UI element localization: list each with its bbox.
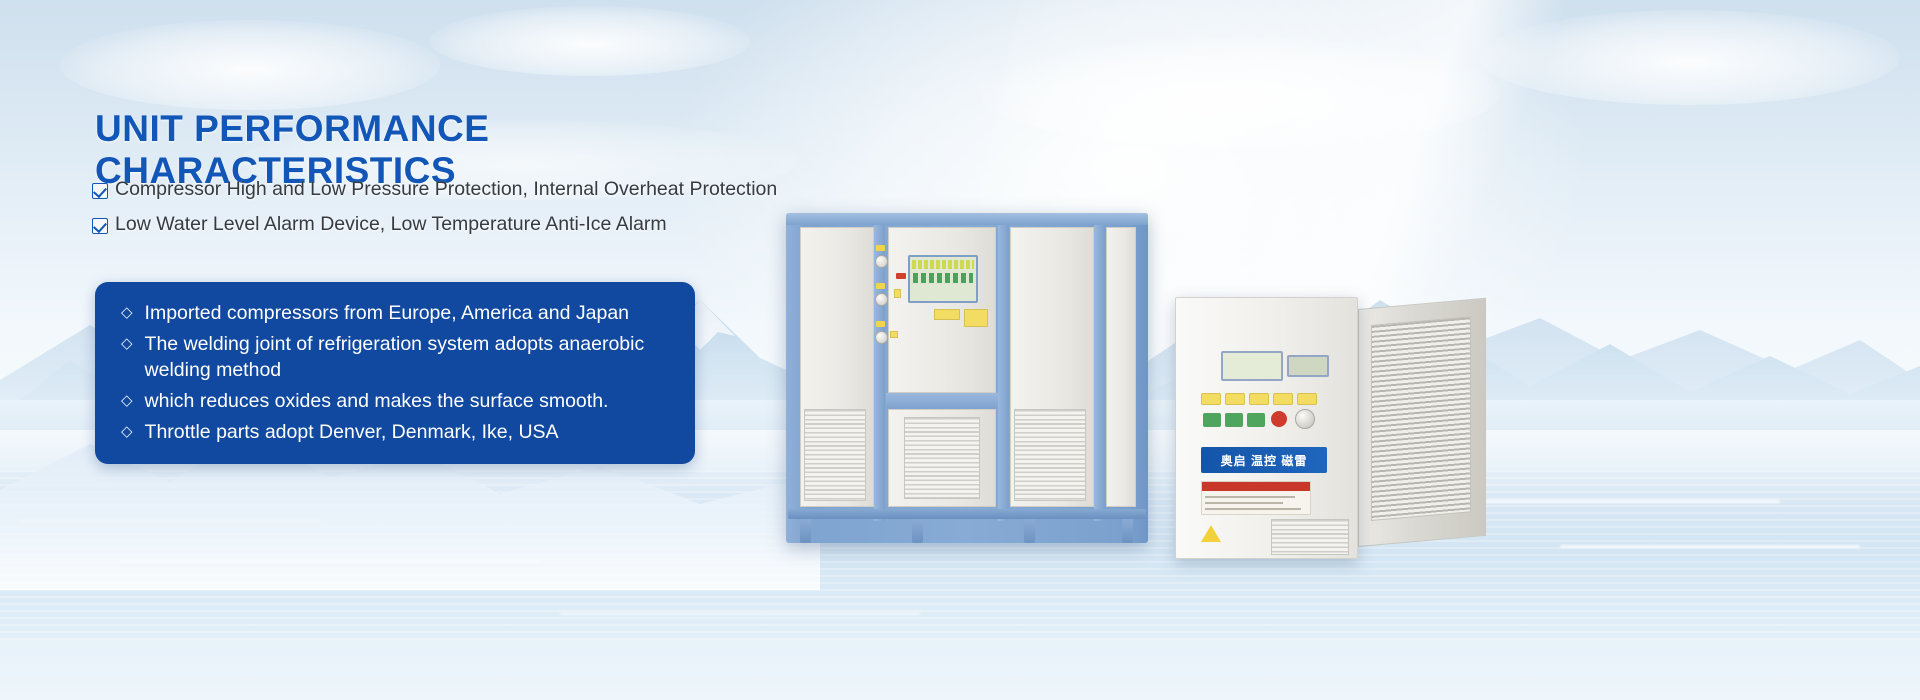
list-item: ◇ which reduces oxides and makes the sur…	[121, 388, 669, 414]
industrial-water-chiller-large	[786, 213, 1148, 543]
control-button-green[interactable]	[1225, 413, 1243, 427]
checkbox-checked-icon	[92, 183, 108, 199]
control-label	[894, 289, 901, 298]
warning-label	[876, 321, 885, 327]
warning-triangle-icon	[1201, 525, 1221, 542]
pressure-gauge	[875, 255, 888, 268]
chiller-door-far-right	[1106, 227, 1136, 507]
emergency-stop-label	[896, 273, 906, 279]
feature-text: Imported compressors from Europe, Americ…	[145, 300, 629, 326]
control-label	[890, 331, 898, 338]
sticker-line	[1205, 496, 1295, 498]
chiller-mid-band	[886, 393, 998, 409]
status-indicator	[1225, 393, 1245, 405]
control-knob[interactable]	[1295, 409, 1315, 429]
control-label	[964, 309, 988, 327]
controller-display	[908, 255, 978, 303]
air-vent	[804, 409, 866, 501]
chiller-leg	[800, 519, 811, 543]
chiller-leg	[912, 519, 923, 543]
air-vent-side	[1371, 316, 1471, 521]
status-indicator	[1273, 393, 1293, 405]
checklist-item-1: Low Water Level Alarm Device, Low Temper…	[92, 213, 667, 236]
chiller-divider	[1094, 225, 1105, 521]
status-indicator	[1297, 393, 1317, 405]
chiller-divider	[874, 225, 885, 521]
ice-streak	[1560, 545, 1860, 548]
chiller-top-rail	[786, 213, 1148, 225]
chiller-leg	[1024, 519, 1035, 543]
feature-text: The welding joint of refrigeration syste…	[145, 331, 669, 383]
chiller-base-rail	[788, 509, 1146, 519]
banner-content: UNIT PERFORMANCE CHARACTERISTICS Compres…	[0, 0, 820, 700]
control-button-green[interactable]	[1203, 413, 1221, 427]
display-segment-row	[912, 260, 974, 269]
checkbox-checked-icon	[92, 218, 108, 234]
warning-label	[876, 283, 885, 289]
sticker-line	[1205, 508, 1301, 510]
feature-text: which reduces oxides and makes the surfa…	[145, 388, 609, 414]
list-item: ◇ The welding joint of refrigeration sys…	[121, 331, 669, 383]
air-vent-front	[1271, 519, 1349, 555]
controller-display-secondary	[1287, 355, 1329, 377]
feature-list: ◇ Imported compressors from Europe, Amer…	[121, 300, 669, 445]
list-item: ◇ Throttle parts adopt Denver, Denmark, …	[121, 419, 669, 445]
control-button-green[interactable]	[1247, 413, 1265, 427]
display-indicator-row	[913, 273, 973, 283]
sticker-line	[1205, 502, 1283, 504]
chiller-leg	[1122, 519, 1133, 543]
diamond-bullet-icon: ◇	[121, 419, 133, 445]
air-vent	[1014, 409, 1086, 501]
brand-plate: 奥启 温控 磁雷	[1201, 447, 1327, 473]
pressure-gauge	[875, 331, 888, 344]
diamond-bullet-icon: ◇	[121, 331, 133, 357]
feature-panel: ◇ Imported compressors from Europe, Amer…	[95, 282, 695, 464]
checklist-item-label: Low Water Level Alarm Device, Low Temper…	[115, 213, 667, 236]
controller-display	[1221, 351, 1283, 381]
checklist-item-label: Compressor High and Low Pressure Protect…	[115, 178, 777, 201]
industrial-water-chiller-small: 奥启 温控 磁雷	[1175, 297, 1495, 559]
feature-text: Throttle parts adopt Denver, Denmark, Ik…	[145, 419, 559, 445]
chiller-divider	[998, 225, 1009, 521]
status-indicator	[1249, 393, 1269, 405]
sticker-header	[1202, 482, 1311, 491]
pressure-gauge	[875, 293, 888, 306]
diamond-bullet-icon: ◇	[121, 388, 133, 414]
air-vent	[904, 417, 980, 499]
control-label	[934, 309, 960, 320]
safety-sticker	[1201, 481, 1311, 515]
list-item: ◇ Imported compressors from Europe, Amer…	[121, 300, 669, 326]
status-indicator	[1201, 393, 1221, 405]
warning-label	[876, 245, 885, 251]
checklist-item-0: Compressor High and Low Pressure Protect…	[92, 178, 777, 201]
diamond-bullet-icon: ◇	[121, 300, 133, 326]
control-button-red[interactable]	[1271, 411, 1287, 427]
